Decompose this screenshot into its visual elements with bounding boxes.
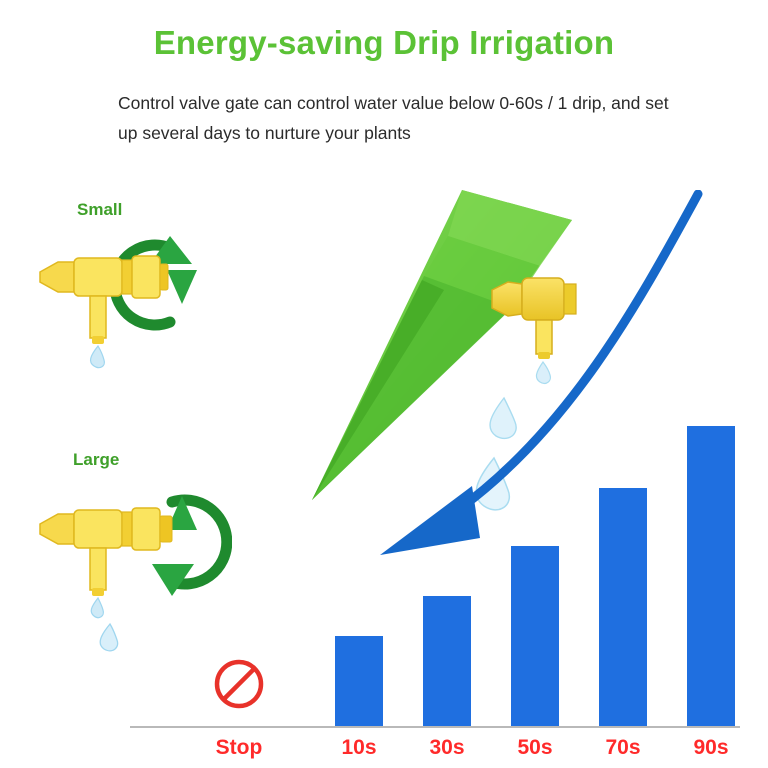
bar-10s xyxy=(335,636,383,726)
page-title: Energy-saving Drip Irrigation xyxy=(0,24,768,62)
water-droplet-2-icon xyxy=(100,624,117,651)
category-label-stop: Stop xyxy=(209,736,269,760)
category-label-50s: 50s xyxy=(505,736,565,760)
bar-30s xyxy=(423,596,471,726)
bar-50s xyxy=(511,546,559,726)
bar-90s xyxy=(687,426,735,726)
large-setting-label: Large xyxy=(73,450,119,470)
category-label-10s: 10s xyxy=(329,736,389,760)
category-label-70s: 70s xyxy=(593,736,653,760)
bar-chart: Stop 10s 30s 50s 70s 90s xyxy=(130,180,750,760)
trend-arrow-head-icon xyxy=(380,486,480,555)
category-label-90s: 90s xyxy=(681,736,741,760)
category-label-30s: 30s xyxy=(417,736,477,760)
water-droplet-icon xyxy=(91,346,105,368)
small-setting-label: Small xyxy=(77,200,122,220)
x-axis-line xyxy=(130,726,740,728)
water-droplet-icon xyxy=(91,598,103,618)
page-subtitle: Control valve gate can control water val… xyxy=(118,88,678,148)
stop-sign-icon xyxy=(213,658,265,710)
bar-70s xyxy=(599,488,647,726)
